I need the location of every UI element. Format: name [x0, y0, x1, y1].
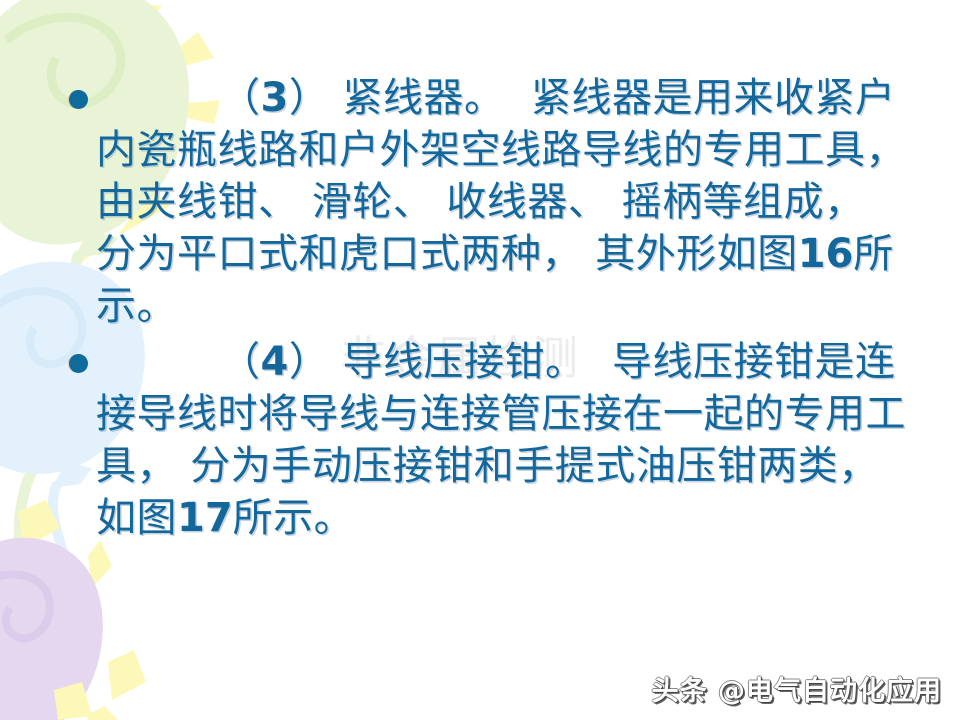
paragraph-2-tail: 所示。	[233, 495, 355, 541]
bullet-paragraph-1: （3） 紧线器。 紧线器是用来收紧户内瓷瓶线路和户外架空线路导线的专用工具， 由…	[60, 72, 910, 332]
paragraph-2-prefix: （	[220, 339, 261, 385]
paragraph-2-item-number: 4	[261, 339, 289, 385]
slide-canvas: 非金属检测 （3） 紧线器。 紧线器是用来收紧户内瓷瓶线路和户外架空线路导线的专…	[0, 0, 960, 720]
paragraph-2-figure-number: 17	[177, 495, 233, 541]
paragraph-1-item-number: 3	[261, 75, 289, 121]
paragraph-1-text: （3） 紧线器。 紧线器是用来收紧户内瓷瓶线路和户外架空线路导线的专用工具， 由…	[60, 72, 910, 332]
paragraph-1-prefix: （	[220, 75, 261, 121]
bullet-paragraph-2: （4） 导线压接钳。 导线压接钳是连接导线时将导线与连接管压接在一起的专用工具，…	[60, 336, 910, 544]
bullet-dot-icon	[69, 90, 88, 109]
bullet-dot-icon	[69, 354, 88, 373]
paragraph-1-figure-number: 16	[798, 231, 854, 277]
slide-content: （3） 紧线器。 紧线器是用来收紧户内瓷瓶线路和户外架空线路导线的专用工具， 由…	[0, 0, 960, 720]
source-watermark: 头条 @电气自动化应用	[652, 669, 942, 708]
paragraph-2-text: （4） 导线压接钳。 导线压接钳是连接导线时将导线与连接管压接在一起的专用工具，…	[60, 336, 910, 544]
